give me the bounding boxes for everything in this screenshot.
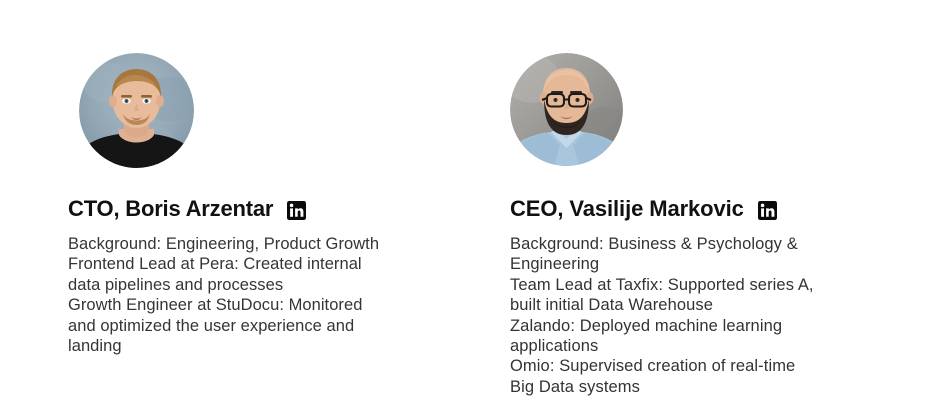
profile-name-row-cto: CTO, Boris Arzentar [68,195,306,223]
bio-line: Background: Engineering, Product Growth [68,234,416,254]
bio-line: landing [68,336,416,356]
bio-line: data pipelines and processes [68,275,416,295]
profile-name-row-ceo: CEO, Vasilije Markovic [510,195,777,223]
profile-bio-cto: Background: Engineering, Product Growth … [68,234,416,356]
linkedin-icon[interactable] [287,201,306,220]
avatar-vasilije-markovic [510,53,623,166]
bio-line: Growth Engineer at StuDocu: Monitored [68,295,416,315]
bio-line: Engineering [510,254,862,274]
profile-card-ceo: CEO, Vasilije Markovic Background: Busin… [510,0,930,412]
bio-line: Frontend Lead at Pera: Created internal [68,254,416,274]
profile-bio-ceo: Background: Business & Psychology & Engi… [510,234,862,397]
bio-line: Team Lead at Taxfix: Supported series A, [510,275,862,295]
avatar-boris-arzentar [79,53,194,168]
bio-line: Big Data systems [510,377,862,397]
bio-line: Zalando: Deployed machine learning [510,316,862,336]
bio-line: Omio: Supervised creation of real-time [510,356,862,376]
person-name-cto: CTO, Boris Arzentar [68,195,273,223]
bio-line: applications [510,336,862,356]
bio-line: built initial Data Warehouse [510,295,862,315]
profile-card-cto: CTO, Boris Arzentar Background: Engineer… [68,0,488,412]
bio-line: and optimized the user experience and [68,316,416,336]
bio-line: Background: Business & Psychology & [510,234,862,254]
team-profiles-page: CTO, Boris Arzentar Background: Engineer… [0,0,948,412]
linkedin-icon[interactable] [758,201,777,220]
person-name-ceo: CEO, Vasilije Markovic [510,195,744,223]
